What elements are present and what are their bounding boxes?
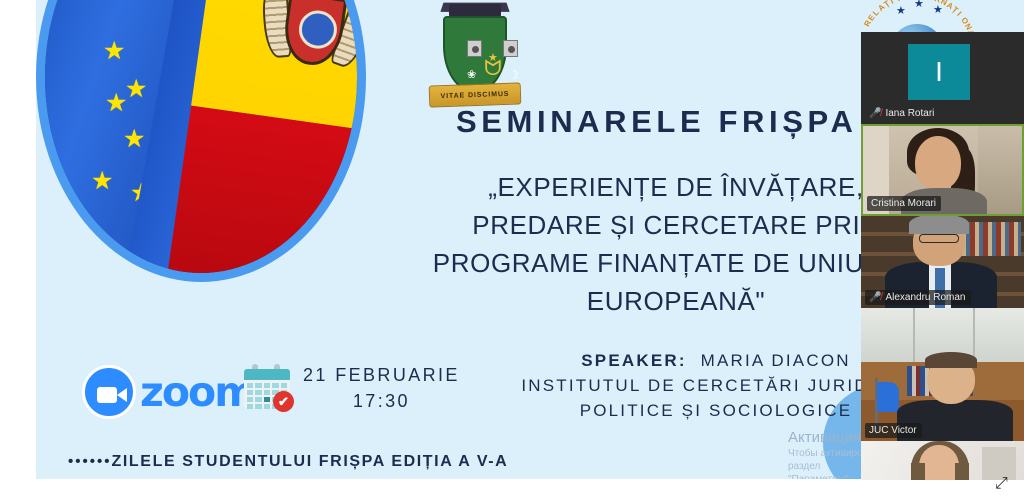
participant-name: Alexandru Roman (885, 292, 965, 303)
eu-moldova-flags-image: ★ ★ ★ ★ ★ ★ ★ (36, 0, 366, 282)
aurochs-icon: ᗢ (479, 58, 507, 80)
crest-motto-text: VITAE DISCIMUS (440, 90, 509, 99)
speaker-label: SPEAKER: (581, 351, 686, 370)
participant-tile[interactable]: JUC Victor (861, 308, 1024, 441)
eu-star-icon: ★ (123, 127, 145, 152)
crest-crescent-icon: ☽ (508, 68, 519, 82)
participant-tile[interactable]: Cristina Morari (861, 124, 1024, 216)
event-datetime: 21 FEBRUARIE 17:30 (303, 362, 460, 414)
eu-star-icon: ★ (103, 39, 125, 64)
participant-name: Cristina Morari (871, 198, 936, 209)
participant-nametag: Cristina Morari (867, 196, 941, 211)
muted-mic-icon: 🎤̸ (869, 109, 881, 119)
resize-handle-icon[interactable]: ⤢ (995, 474, 1017, 494)
event-date: 21 FEBRUARIE (303, 362, 460, 388)
date-block: ✔ 21 FEBRUARIE 17:30 (241, 362, 460, 414)
calendar-check-icon: ✔ (273, 391, 294, 412)
crest-emblem-square (467, 40, 482, 57)
participant-name: JUC Victor (869, 425, 917, 436)
crest-emblem-square (503, 40, 518, 57)
speaker-name: MARIA DIACON (701, 351, 851, 370)
footer-text: ZILELE STUDENTULUI FRIȘPA EDIȚIA A V-A (112, 453, 509, 471)
event-time: 17:30 (303, 388, 460, 414)
zoom-participant-strip[interactable]: I 🎤̸ Iana Rotari Cristina Morari (861, 32, 1024, 480)
crest-shield-green: ★ ᗢ ❀ ☽ (443, 16, 507, 92)
participant-nametag: 🎤̸ Alexandru Roman (865, 290, 971, 305)
muted-mic-icon: 🎤̸ (869, 293, 881, 303)
crest-flower-icon: ❀ (467, 68, 476, 81)
eu-star-icon: ★ (91, 169, 113, 194)
participant-tile[interactable]: 🎤̸ Alexandru Roman (861, 216, 1024, 308)
glasses-icon (919, 234, 959, 243)
zoom-logo: zoom (82, 365, 255, 419)
moldova-flag (165, 0, 366, 282)
screenshot-root: ★ ★ ★ ★ ★ ★ ★ (0, 0, 1024, 497)
participant-nametag: 🎤̸ Iana Rotari (865, 106, 939, 121)
university-crest-icon: ★ ᗢ ❀ ☽ VITAE DISCIMUS (427, 2, 523, 112)
zoom-wordmark: zoom (140, 368, 255, 416)
participant-name: Iana Rotari (885, 108, 934, 119)
zoom-camera-icon (82, 365, 136, 419)
moldova-flag-red-band (165, 106, 366, 282)
moldova-coat-of-arms-icon (260, 0, 366, 91)
footer-dots: •••••• (68, 453, 112, 470)
calendar-icon: ✔ (241, 364, 293, 412)
participant-avatar: I (908, 44, 970, 100)
eu-star-icon: ★ (125, 77, 147, 102)
participant-tile[interactable]: I 🎤̸ Iana Rotari (861, 32, 1024, 124)
eu-star-icon: ★ (105, 91, 127, 116)
participant-nametag: JUC Victor (865, 423, 922, 438)
